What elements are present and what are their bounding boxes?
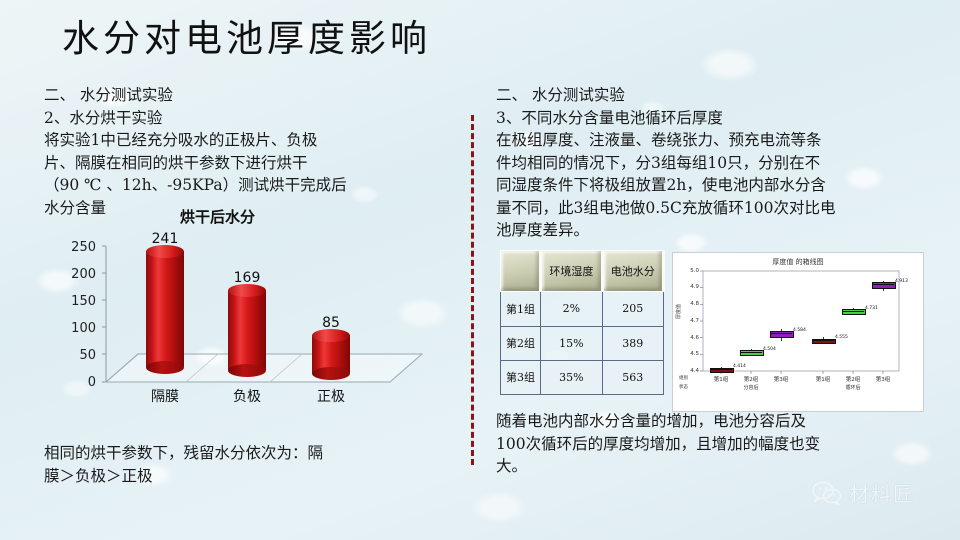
right-conclusion: 随着电池内部水分含量的增加，电池分容后及 100次循环后的厚度均增加，且增加的幅… <box>496 410 926 478</box>
left-text-line-5: （90 ℃ 、12h、-95KPa）测试烘干完成后 <box>44 174 444 197</box>
table-cell-group: 第1组 <box>501 292 541 326</box>
boxplot-median-6 <box>872 284 894 285</box>
boxplot-ytick-4-8: 4.8 <box>683 301 699 307</box>
boxplot-median-2 <box>740 352 762 353</box>
bar-cylinder-2-body <box>228 290 266 370</box>
bar-cylinder-1-base <box>146 361 184 374</box>
left-text-line-4: 片、隔膜在相同的烘干参数下进行烘干 <box>44 152 444 175</box>
boxplot-group-label-1: 分容后 <box>731 384 771 391</box>
bar-cylinder-3-base <box>312 367 350 380</box>
left-text-line-1: 二、 水分测试实验 <box>44 84 444 107</box>
boxplot-ytick-4-5: 4.5 <box>683 351 699 357</box>
right-column: 二、 水分测试实验 3、不同水分含量电池循环后厚度 在极组厚度、注液量、卷绕张力… <box>496 84 924 242</box>
bar-cylinder-1-body <box>146 251 184 367</box>
bar-cylinder-3 <box>312 335 350 373</box>
boxplot-median-5 <box>842 311 864 312</box>
right-conclusion-line-2: 100次循环后的厚度均增加，且增加的幅度也变 <box>496 433 926 456</box>
table-row: 第1组 2% 205 <box>501 292 664 326</box>
boxplot-xtick-4: 第1组 <box>809 375 837 383</box>
boxplot-label-1: 4.414 <box>733 364 746 369</box>
table-row: 第3组 35% 563 <box>501 360 664 394</box>
boxplot-median-1 <box>710 369 732 370</box>
right-text-line-3: 在极组厚度、注液量、卷绕张力、预充电流等条 <box>496 129 924 152</box>
watermark-text: 材料匠 <box>849 478 915 507</box>
bar-value-label-3: 85 <box>301 315 361 331</box>
boxplot-label-4: 4.555 <box>835 335 848 340</box>
boxplot-xtick-5: 第2组 <box>839 375 867 383</box>
boxplot-ytick-5-0: 5.0 <box>683 268 699 274</box>
right-conclusion-line-1: 随着电池内部水分含量的增加，电池分容后及 <box>496 410 926 433</box>
bar-cylinder-1 <box>146 251 184 367</box>
boxplot-median-3 <box>770 333 792 334</box>
boxplot-ytick-4-9: 4.9 <box>683 284 699 290</box>
boxplot-axis-name-1: 组别 <box>679 375 688 381</box>
boxplot-label-2: 4.504 <box>763 347 776 352</box>
boxplot-axis-name-2: 状态 <box>679 384 688 390</box>
boxplot-xtick-3: 第3组 <box>767 375 795 383</box>
left-text-line-3: 将实验1中已经充分吸水的正极片、负极 <box>44 129 444 152</box>
boxplot-label-5: 4.731 <box>865 306 878 311</box>
wechat-icon <box>812 481 842 505</box>
slide-page: 水分对电池厚度影响 二、 水分测试实验 2、水分烘干实验 将实验1中已经充分吸水… <box>0 0 960 540</box>
boxplot-chart: 厚度值 的箱线图 厚度值 4.4 4.5 4.6 4.7 4.8 4.9 5.0 <box>672 252 924 412</box>
left-text-line-2: 2、水分烘干实验 <box>44 107 444 130</box>
table-cell-humidity: 35% <box>541 360 602 394</box>
boxplot-median-4 <box>812 340 834 341</box>
left-column: 二、 水分测试实验 2、水分烘干实验 将实验1中已经充分吸水的正极片、负极 片、… <box>44 84 444 219</box>
table-cell-group: 第2组 <box>501 326 541 360</box>
right-text-line-4: 件均相同的情况下，分3组每组10只，分别在不 <box>496 152 924 175</box>
bar-category-label-2: 负极 <box>212 386 282 406</box>
boxplot-label-6: 4.913 <box>895 279 908 284</box>
left-conclusion-line-1: 相同的烘干参数下，残留水分依次为：隔 <box>44 442 444 465</box>
boxplot-xtick-1: 第1组 <box>707 375 735 383</box>
left-conclusion: 相同的烘干参数下，残留水分依次为：隔 膜＞负极＞正极 <box>44 442 444 487</box>
right-conclusion-line-3: 大。 <box>496 455 926 478</box>
bar-category-label-3: 正极 <box>296 386 366 406</box>
boxplot-xtick-2: 第2组 <box>737 375 765 383</box>
table-header-moisture: 电池水分 <box>602 251 663 292</box>
column-divider <box>471 115 474 465</box>
left-conclusion-line-2: 膜＞负极＞正极 <box>44 465 444 488</box>
bar-value-label-1: 241 <box>135 231 195 247</box>
boxplot-ytick-4-7: 4.7 <box>683 318 699 324</box>
bar-cylinder-2 <box>228 290 266 370</box>
table-header-row: 环境湿度 电池水分 <box>501 251 664 292</box>
table-cell-group: 第3组 <box>501 360 541 394</box>
table-cell-moisture: 389 <box>602 326 663 360</box>
boxplot-label-3: 4.584 <box>793 328 806 333</box>
boxplot-xtick-6: 第3组 <box>869 375 897 383</box>
bar-cylinder-2-base <box>228 364 266 377</box>
right-text-line-1: 二、 水分测试实验 <box>496 84 924 107</box>
table-row: 第2组 15% 389 <box>501 326 664 360</box>
table-header-blank <box>501 251 541 292</box>
table-cell-humidity: 15% <box>541 326 602 360</box>
boxplot-group-label-2: 循环后 <box>833 384 873 391</box>
right-text-line-6: 量不同，此3组电池做0.5C充放循环100次对比电 <box>496 197 924 220</box>
bar-value-label-2: 169 <box>217 270 277 286</box>
bar-category-label-1: 隔膜 <box>130 386 200 406</box>
bar-chart: 烘干后水分 250 200 150 100 50 0 <box>62 206 442 414</box>
table-header-humidity: 环境湿度 <box>541 251 602 292</box>
right-text-line-7: 池厚度差异。 <box>496 219 924 242</box>
page-title: 水分对电池厚度影响 <box>62 8 431 62</box>
right-text-line-2: 3、不同水分含量电池循环后厚度 <box>496 107 924 130</box>
boxplot-ytick-4-4: 4.4 <box>683 368 699 374</box>
watermark: 材料匠 <box>812 478 915 507</box>
table-cell-humidity: 2% <box>541 292 602 326</box>
right-text-line-5: 同湿度条件下将极组放置2h，使电池内部水分含 <box>496 174 924 197</box>
table-cell-moisture: 563 <box>602 360 663 394</box>
boxplot-ytick-4-6: 4.6 <box>683 335 699 341</box>
humidity-moisture-table: 环境湿度 电池水分 第1组 2% 205 第2组 15% 389 第3组 35%… <box>500 250 665 395</box>
table-cell-moisture: 205 <box>602 292 663 326</box>
